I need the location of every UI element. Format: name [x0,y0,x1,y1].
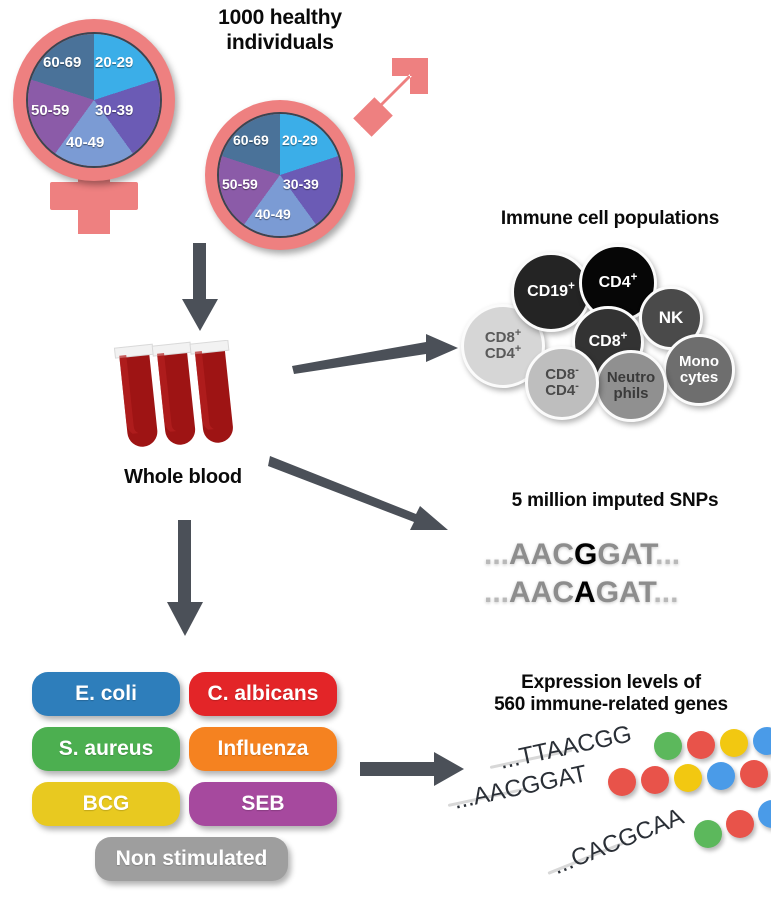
pie-label-40-49: 40-49 [255,206,291,222]
cell-label: CD8+ [589,334,628,351]
snp-prefix-bases: AAC [509,576,574,609]
arrow-blood-to-immune [292,322,462,382]
stimulation-influenza[interactable]: Influenza [189,727,337,771]
pie-label-60-69: 60-69 [233,132,269,148]
stimulation-non-stimulated[interactable]: Non stimulated [95,837,288,881]
cell-monocytes: Mono cytes [663,334,735,406]
snp-variant-base: G [574,538,597,571]
stimulation-seb[interactable]: SEB [189,782,337,826]
pie-label-50-59: 50-59 [222,176,258,192]
cell-label-line2: cytes [680,370,718,386]
whole-blood-group: Whole blood [110,340,260,500]
pie-label-20-29: 20-29 [282,132,318,148]
cohort-headline-line1: 1000 healthy [185,6,375,31]
pie-label-40-49: 40-49 [66,134,104,151]
pie-label-50-59: 50-59 [31,102,69,119]
pie-label-30-39: 30-39 [283,176,319,192]
expression-title: Expression levels of 560 immune-related … [455,672,767,717]
expression-dot [694,820,722,848]
stimulation-bcg[interactable]: BCG [32,782,180,826]
expression-dot [758,800,771,828]
snp-suffix-bases: GAT [597,538,655,571]
cohort-headline: 1000 healthy individuals [185,6,375,56]
immune-cell-cluster: CD8+ CD4+ CD19+ CD4+ CD8+ NK Mono cytes … [455,240,765,420]
stimulation-calbicans[interactable]: C. albicans [189,672,337,716]
expression-dot [674,764,702,792]
cell-label: NK [659,309,684,327]
snp-suffix-bases: GAT [596,576,654,609]
expression-dot [654,732,682,760]
female-stem-horizontal [50,182,138,210]
immune-cell-title: Immune cell populations [455,208,765,230]
female-symbol: 20-29 30-39 40-49 50-59 60-69 [10,16,190,236]
expression-dot [726,810,754,838]
cell-label-line2: phils [613,386,648,402]
snp-sequences: ...AACGGAT... ...AACAGAT... [478,530,758,620]
whole-blood-label: Whole blood [88,466,278,490]
snp-ellipsis-left: ... [484,576,509,609]
arrow-cohort-to-blood [178,243,222,335]
cell-label-line2: CD4- [545,383,579,399]
cell-cd8neg-cd4neg: CD8- CD4- [525,346,599,420]
snp-title: 5 million imputed SNPs [470,490,760,512]
cell-label: CD4+ [599,275,638,292]
snp-sequence-row: ...AACGGAT... [484,538,680,572]
expression-dot [707,762,735,790]
expression-dot [740,760,768,788]
stimulation-ecoli[interactable]: E. coli [32,672,180,716]
pie-label-30-39: 30-39 [95,102,133,119]
expression-dot [720,729,748,757]
male-symbol: 20-29 30-39 40-49 50-59 60-69 [200,50,420,250]
expression-dot [753,727,771,755]
expression-dot [641,766,669,794]
blood-tubes-icon [110,340,260,460]
arrow-blood-to-stimulation [164,520,208,640]
snp-variant-base: A [574,576,596,609]
stimulation-panel: E. coli C. albicans S. aureus Influenza … [32,672,342,898]
figure-canvas: 1000 healthy individuals 20-29 30-39 40-… [0,0,771,922]
cell-neutrophils: Neutro phils [595,350,667,422]
strand-sequence: ...CACGCAA [549,803,688,881]
pie-label-60-69: 60-69 [43,54,81,71]
stimulation-saureus[interactable]: S. aureus [32,727,180,771]
pie-label-20-29: 20-29 [95,54,133,71]
snp-ellipsis-left: ... [484,538,509,571]
snp-ellipsis-right: ... [653,576,678,609]
cell-label-line1: Neutro [607,370,655,386]
expression-title-line1: Expression levels of [455,672,767,694]
snp-prefix-bases: AAC [509,538,574,571]
expression-strands: ...TTAACGG ...AACGGAT ...CACGCAA [440,730,771,915]
arrow-blood-to-snps [268,448,458,543]
cell-label-line2: CD4+ [485,346,521,362]
cell-label: CD19+ [527,284,575,301]
expression-dot [608,768,636,796]
expression-dot [687,731,715,759]
cell-label-line1: Mono [679,354,719,370]
snp-sequence-row: ...AACAGAT... [484,576,678,610]
expression-title-line2: 560 immune-related genes [455,694,767,716]
snp-ellipsis-right: ... [655,538,680,571]
cell-label-line1: CD8- [545,367,579,383]
